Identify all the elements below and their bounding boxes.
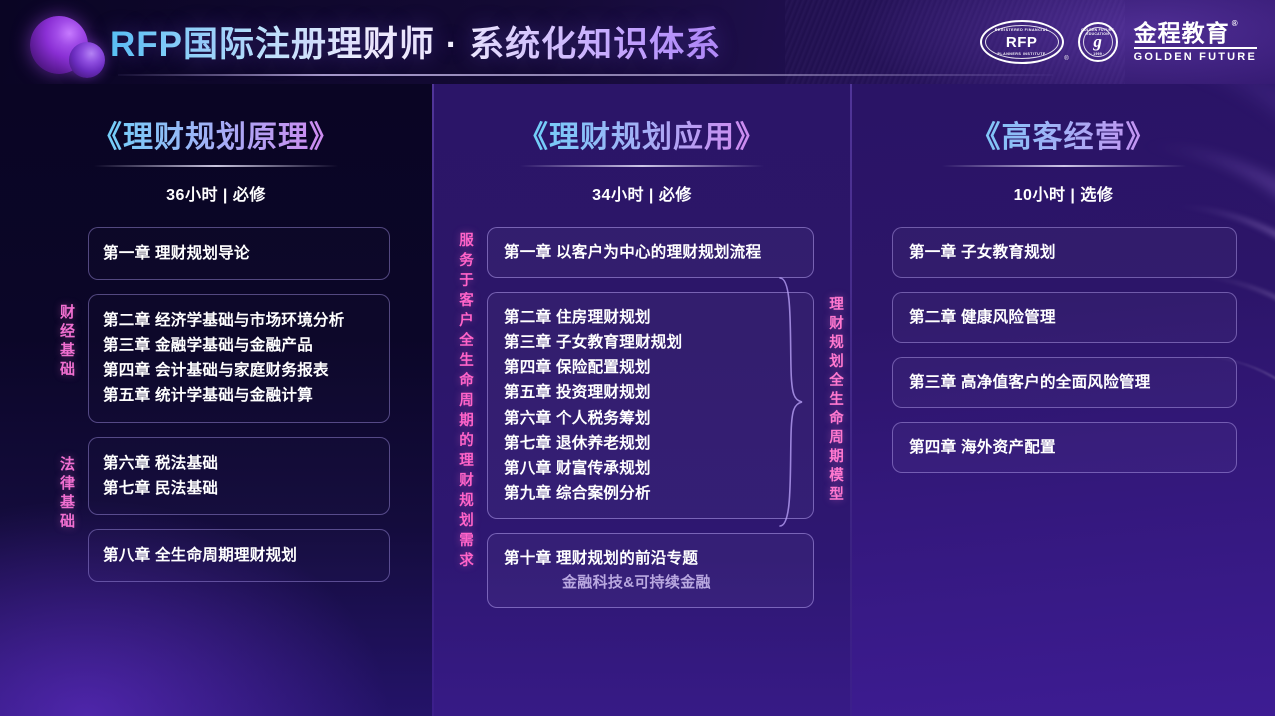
chapter-item: 第一章 理财规划导论 [103, 241, 375, 266]
golden-future-wordmark: 金程教育® GOLDEN FUTURE [1134, 21, 1257, 63]
chapter-card[interactable]: 第四章 海外资产配置 [892, 422, 1237, 473]
chapter-card[interactable]: 第十章 理财规划的前沿专题 金融科技&可持续金融 [487, 533, 814, 608]
gf-divider [1134, 47, 1257, 49]
column-title-divider [94, 165, 338, 167]
chapter-item: 第八章 全生命周期理财规划 [103, 543, 375, 568]
course-column-hnw: 《高客经营》 10小时 | 选修 第一章 子女教育规划 第二章 健康风险管理 第… [852, 84, 1275, 716]
chapter-card[interactable]: 第二章 住房理财规划 第三章 子女教育理财规划 第四章 保险配置规划 第五章 投… [487, 292, 814, 519]
rfp-seal-arc-bottom: PLANNERS INSTITUTE [982, 52, 1062, 56]
column-title: 《理财规划应用》 [432, 112, 852, 156]
chapter-item: 第二章 住房理财规划 [504, 305, 797, 330]
chapter-item: 第四章 保险配置规划 [504, 355, 797, 380]
sphere-small-icon [69, 42, 105, 78]
side-label-law-basics: 法律基础 [52, 456, 74, 532]
gf-seal-arc-bottom: · 1999 · [1080, 52, 1116, 56]
column-meta: 10小时 | 选修 [852, 181, 1275, 205]
chapter-card-list: 第一章 子女教育规划 第二章 健康风险管理 第三章 高净值客户的全面风险管理 第… [892, 227, 1237, 473]
rfp-seal-mark: RFP [1006, 34, 1038, 51]
side-label-finance-basics: 财经基础 [52, 304, 74, 380]
logo-group: REGISTERED FINANCIAL RFP PLANNERS INSTIT… [980, 20, 1257, 64]
chapter-card[interactable]: 第六章 税法基础 第七章 民法基础 [88, 437, 390, 515]
chapter-item: 第四章 海外资产配置 [909, 435, 1220, 460]
chapter-item: 第三章 金融学基础与金融产品 [103, 333, 375, 358]
chapter-card[interactable]: 第一章 理财规划导论 [88, 227, 390, 280]
course-columns: 《理财规划原理》 36小时 | 必修 财经基础 法律基础 第一章 理财规划导论 … [0, 84, 1275, 716]
gf-chinese-name-text: 金程教育 [1134, 20, 1230, 46]
gf-english-name: GOLDEN FUTURE [1134, 51, 1257, 63]
rfp-seal-icon: REGISTERED FINANCIAL RFP PLANNERS INSTIT… [980, 20, 1064, 64]
chapter-item: 第一章 以客户为中心的理财规划流程 [504, 240, 797, 265]
spheres-logo-icon [24, 12, 120, 82]
chapter-subtitle: 金融科技&可持续金融 [504, 571, 797, 595]
gf-chinese-name: 金程教育® [1134, 21, 1230, 45]
course-column-application: 《理财规划应用》 34小时 | 必修 服务于客户全生命周期的理财规划需求 理财规… [432, 84, 852, 716]
header-divider [118, 74, 1053, 76]
chapter-item: 第六章 个人税务筹划 [504, 406, 797, 431]
course-column-principles: 《理财规划原理》 36小时 | 必修 财经基础 法律基础 第一章 理财规划导论 … [0, 84, 432, 716]
chapter-item: 第六章 税法基础 [103, 451, 375, 476]
column-meta: 34小时 | 必修 [432, 181, 852, 205]
chapter-item: 第七章 退休养老规划 [504, 431, 797, 456]
page-header: RFP国际注册理财师 · 系统化知识体系 REGISTERED FINANCIA… [0, 0, 1275, 84]
chapter-item: 第五章 统计学基础与金融计算 [103, 383, 375, 408]
chapter-card-list: 第一章 理财规划导论 第二章 经济学基础与市场环境分析 第三章 金融学基础与金融… [88, 227, 390, 582]
column-title: 《理财规划原理》 [0, 112, 432, 156]
column-meta: 36小时 | 必修 [0, 181, 432, 205]
chapter-item: 第二章 经济学基础与市场环境分析 [103, 308, 375, 333]
chapter-item: 第五章 投资理财规划 [504, 380, 797, 405]
chapter-item: 第三章 高净值客户的全面风险管理 [909, 370, 1220, 395]
chapter-item: 第一章 子女教育规划 [909, 240, 1220, 265]
golden-future-seal-icon: GOLDEN FUTURE EDUCATION g · 1999 · [1078, 22, 1118, 62]
chapter-card[interactable]: 第二章 经济学基础与市场环境分析 第三章 金融学基础与金融产品 第四章 会计基础… [88, 294, 390, 422]
chapter-item: 第二章 健康风险管理 [909, 305, 1220, 330]
chapter-item: 第四章 会计基础与家庭财务报表 [103, 358, 375, 383]
chapter-card[interactable]: 第八章 全生命周期理财规划 [88, 529, 390, 582]
rfp-registered-symbol: ® [1064, 56, 1068, 62]
column-title-divider [520, 165, 764, 167]
gf-registered-symbol: ® [1232, 20, 1239, 28]
chapter-card[interactable]: 第三章 高净值客户的全面风险管理 [892, 357, 1237, 408]
chapter-item: 第十章 理财规划的前沿专题 [504, 546, 797, 571]
column-title: 《高客经营》 [852, 112, 1275, 156]
rfp-seal-arc-top: REGISTERED FINANCIAL [982, 28, 1062, 32]
chapter-item: 第九章 综合案例分析 [504, 481, 797, 506]
gf-seal-mark: g [1093, 32, 1102, 52]
column-title-divider [942, 165, 1186, 167]
chapter-item: 第三章 子女教育理财规划 [504, 330, 797, 355]
chapter-card-list: 第一章 以客户为中心的理财规划流程 第二章 住房理财规划 第三章 子女教育理财规… [487, 227, 814, 608]
side-label-lifecycle-model: 理财规划全生命周期模型 [820, 296, 842, 505]
chapter-card[interactable]: 第一章 以客户为中心的理财规划流程 [487, 227, 814, 278]
side-label-lifecycle-needs: 服务于客户全生命周期的理财规划需求 [450, 232, 472, 572]
chapter-card[interactable]: 第二章 健康风险管理 [892, 292, 1237, 343]
chapter-item: 第八章 财富传承规划 [504, 456, 797, 481]
chapter-card[interactable]: 第一章 子女教育规划 [892, 227, 1237, 278]
page-title: RFP国际注册理财师 · 系统化知识体系 [110, 16, 721, 67]
chapter-item: 第七章 民法基础 [103, 476, 375, 501]
